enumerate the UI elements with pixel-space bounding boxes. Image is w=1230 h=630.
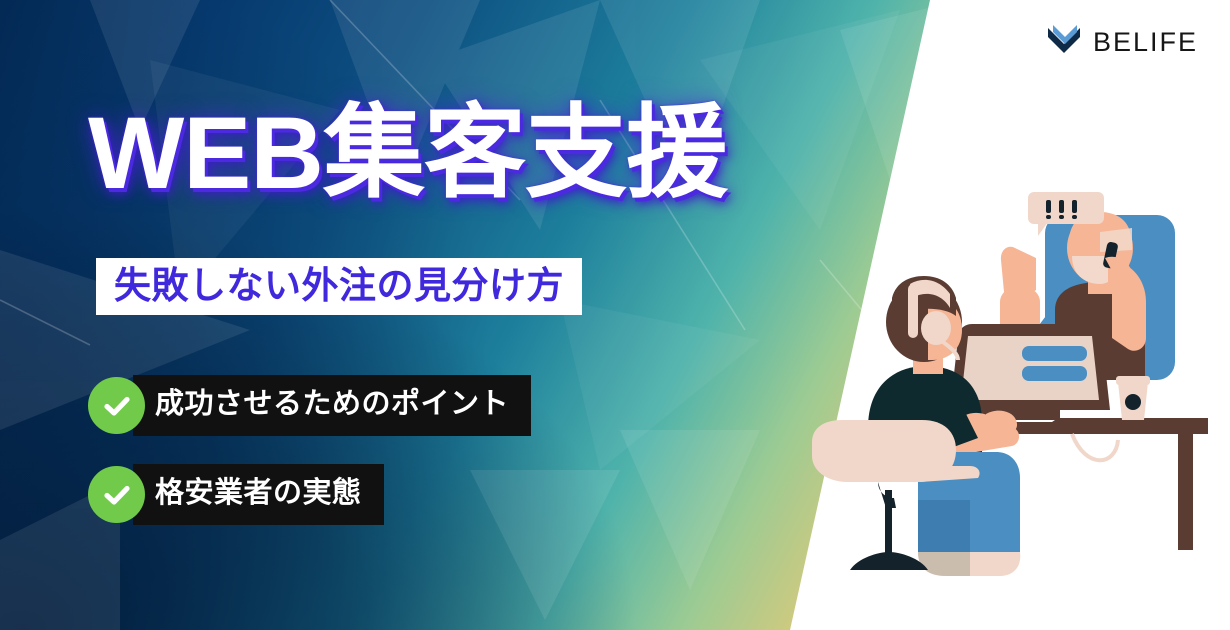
list-item[interactable]: 格安業者の実態 [88,464,531,525]
page-title: WEB集客支援 [88,100,727,207]
chevron-down-double-icon [1044,22,1084,62]
check-circle-icon [88,466,145,523]
coffee-cup [1116,376,1150,420]
bullet-label: 成功させるためのポイント [133,375,531,436]
remote-support-call-illustration [800,170,1220,630]
list-item[interactable]: 成功させるためのポイント [88,375,531,436]
brand-logo[interactable]: BELIFE [1044,22,1198,62]
bullet-label: 格安業者の実態 [133,464,384,525]
subtitle-text: 失敗しない外注の見分け方 [114,265,564,306]
promo-banner: BELIFE WEB集客支援 失敗しない外注の見分け方 成功させるためのポイント… [0,0,1230,630]
feature-bullet-list: 成功させるためのポイント 格安業者の実態 [88,375,531,525]
brand-logo-text: BELIFE [1093,29,1198,56]
subtitle-band: 失敗しない外注の見分け方 [96,258,582,315]
check-circle-icon [88,377,145,434]
